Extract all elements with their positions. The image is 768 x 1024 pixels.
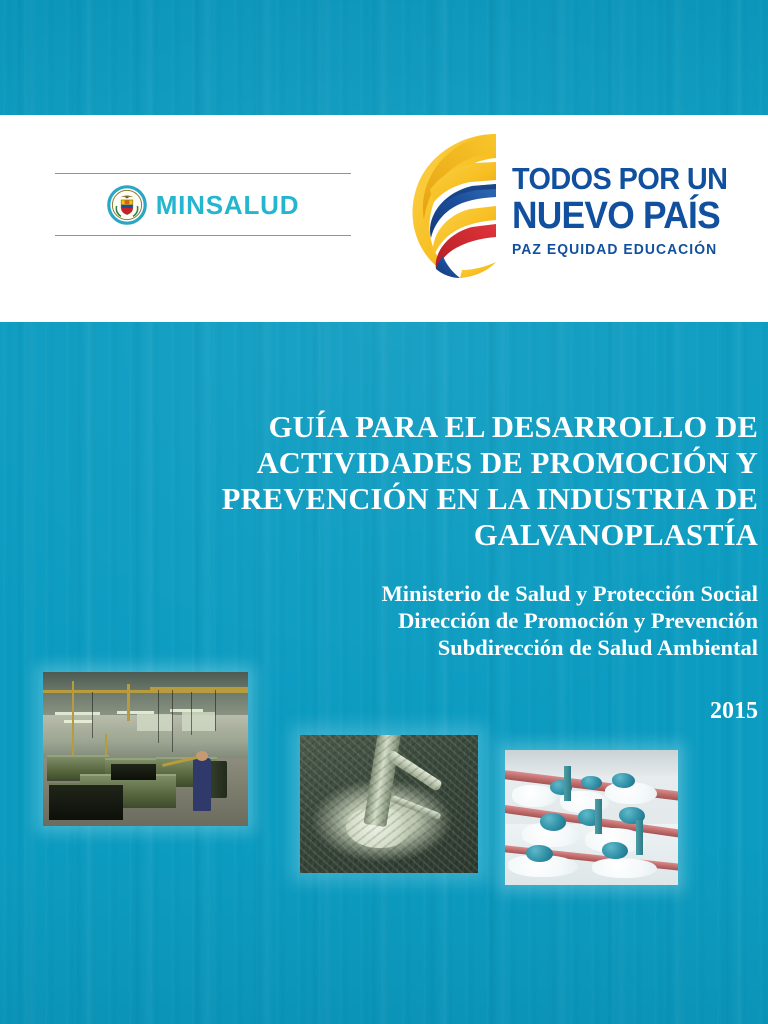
brand-line-1: TODOS POR UN [512, 163, 727, 194]
minsalud-logo-block: MINSALUD [55, 173, 351, 236]
photo-electroplating-plant [43, 672, 248, 826]
photo-bath-scene [505, 750, 678, 885]
photo-plant-scene [43, 672, 248, 826]
minsalud-lockup: MINSALUD [55, 174, 351, 235]
colombia-national-seal-icon [107, 185, 147, 225]
government-brand-text: TODOS POR UN NUEVO PAÍS PAZ EQUIDAD EDUC… [512, 149, 744, 258]
title-line-3: PREVENCIÓN EN LA INDUSTRIA DE [213, 481, 758, 517]
minsalud-rule-bottom [55, 235, 351, 236]
issuer-line-1: Ministerio de Salud y Protección Social [198, 580, 758, 607]
issuer-line-3: Subdirección de Salud Ambiental [198, 634, 758, 661]
publication-year: 2015 [710, 699, 758, 723]
issuer-line-2: Dirección de Promoción y Prevención [198, 607, 758, 634]
title-line-1: GUÍA PARA EL DESARROLLO DE [213, 409, 758, 445]
government-brand-lockup: TODOS POR UN NUEVO PAÍS PAZ EQUIDAD EDUC… [400, 123, 736, 283]
document-cover: MINSALUD [0, 0, 768, 1024]
title-line-4: GALVANOPLASTÍA [213, 517, 758, 553]
title-line-2: ACTIVIDADES DE PROMOCIÓN Y [213, 445, 758, 481]
minsalud-wordmark: MINSALUD [156, 192, 300, 218]
photo-rinse-scene [300, 735, 478, 873]
document-title: GUÍA PARA EL DESARROLLO DE ACTIVIDADES D… [213, 409, 758, 553]
photo-plating-bath [505, 750, 678, 885]
brand-line-2: NUEVO PAÍS [512, 197, 727, 235]
logo-band: MINSALUD [0, 115, 768, 322]
photo-rinse-process [300, 735, 478, 873]
colombia-ribbon-swoosh-icon [400, 128, 506, 278]
brand-tagline: PAZ EQUIDAD EDUCACIÓN [512, 242, 734, 258]
issuer-block: Ministerio de Salud y Protección Social … [198, 580, 758, 661]
